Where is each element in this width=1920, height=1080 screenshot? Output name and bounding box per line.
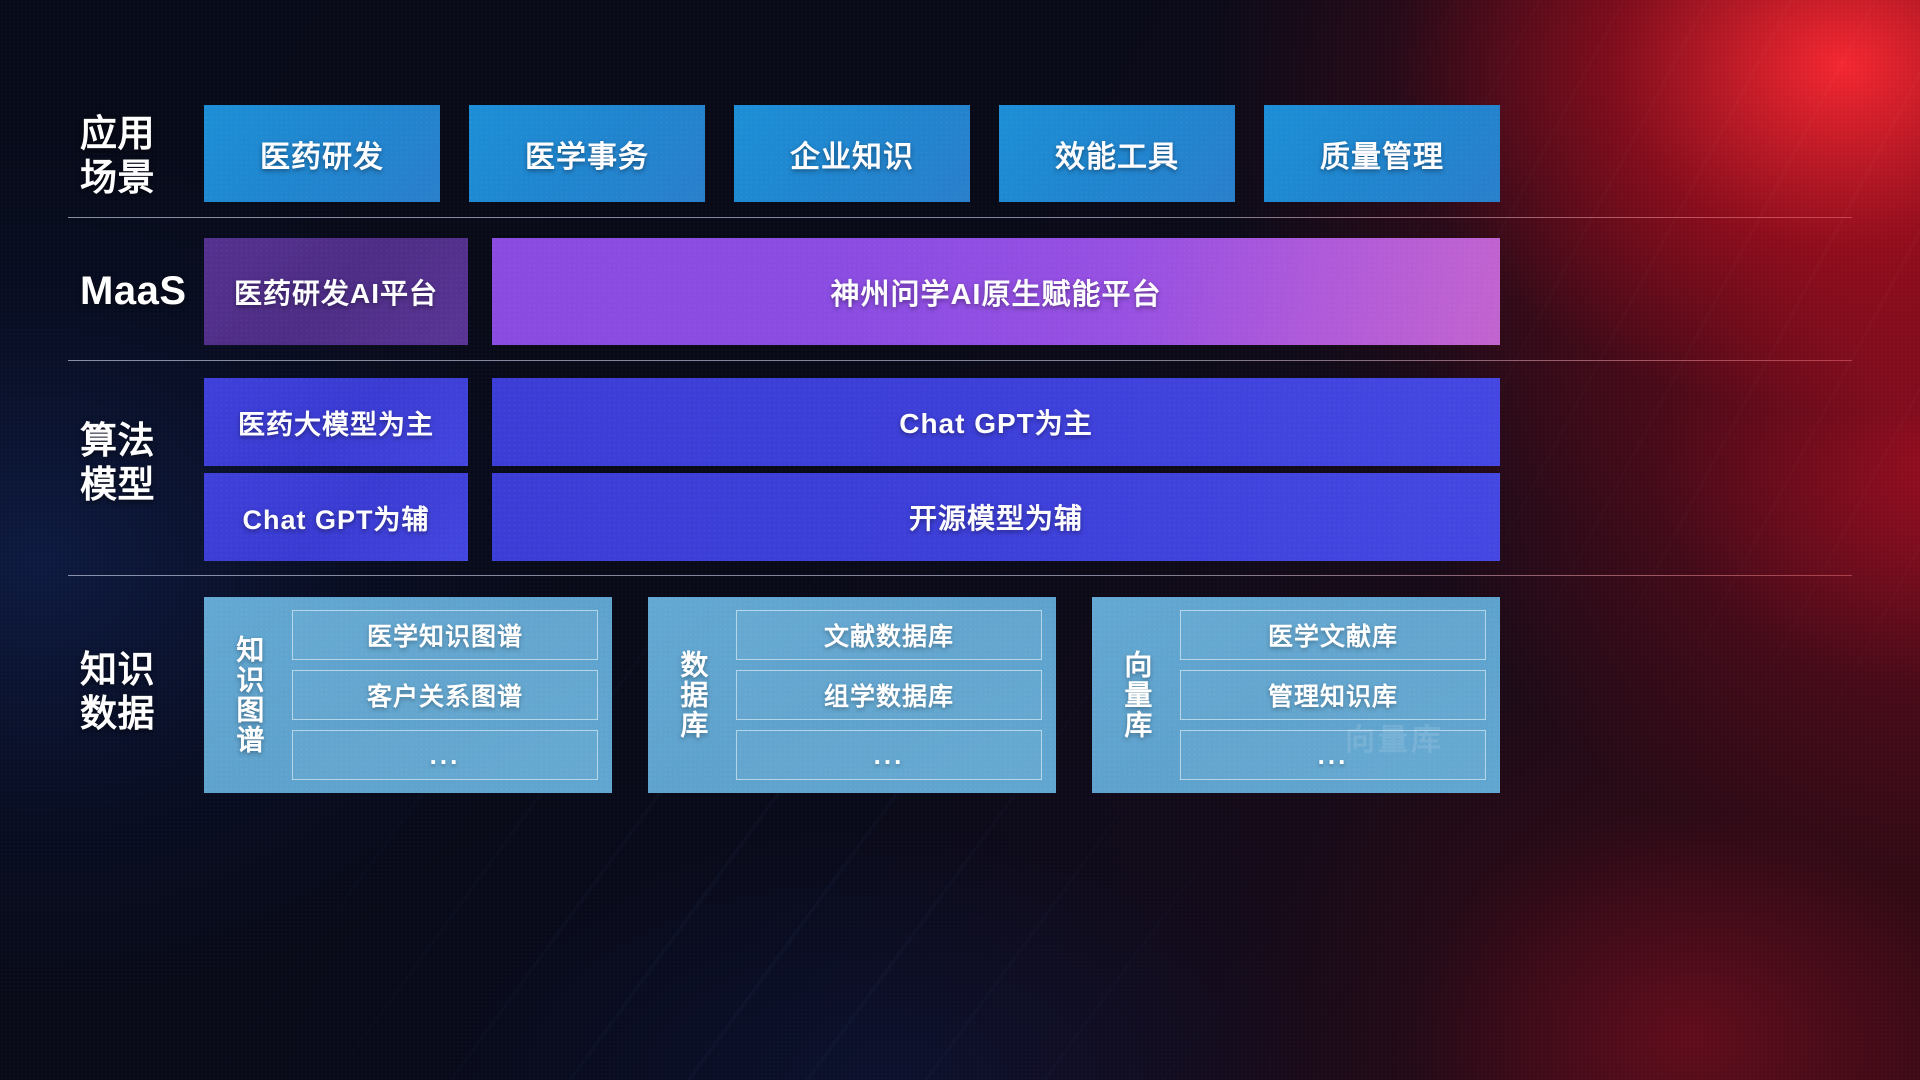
knowledge-card-database[interactable]: 数据库 文献数据库 组学数据库 ... [648, 597, 1056, 793]
row-label-application-scenarios: 应用场景 [80, 112, 220, 199]
knowledge-card-graph[interactable]: 知识图谱 医学知识图谱 客户关系图谱 ... [204, 597, 612, 793]
knowledge-item-more[interactable]: ... [1180, 730, 1486, 780]
app-scenario-box-2[interactable]: 医学事务 [469, 105, 705, 202]
architecture-diagram: 应用场景 医药研发 医学事务 企业知识 效能工具 质量管理 MaaS 医药研发A… [0, 0, 1920, 1080]
divider-after-maas [68, 360, 1852, 361]
knowledge-item[interactable]: 文献数据库 [736, 610, 1042, 660]
app-scenario-box-1[interactable]: 医药研发 [204, 105, 440, 202]
algorithm-box-tier2-left[interactable]: Chat GPT为辅 [204, 473, 468, 561]
algorithm-box-tier2-right[interactable]: 开源模型为辅 [492, 473, 1500, 561]
knowledge-card-items-graph: 医学知识图谱 客户关系图谱 ... [292, 610, 598, 780]
row-label-maas: MaaS [80, 268, 220, 315]
knowledge-item-more[interactable]: ... [736, 730, 1042, 780]
maas-platform-label-right: 神州问学AI原生赋能平台 [830, 271, 1161, 313]
app-scenario-box-4[interactable]: 效能工具 [999, 105, 1235, 202]
algorithm-label-tier2-right: 开源模型为辅 [909, 497, 1083, 537]
algorithm-label-tier1-left: 医药大模型为主 [238, 403, 434, 442]
app-scenario-label-1: 医药研发 [260, 132, 384, 176]
knowledge-item[interactable]: 医学知识图谱 [292, 610, 598, 660]
row-label-knowledge-data: 知识数据 [80, 648, 220, 735]
algorithm-box-tier1-left[interactable]: 医药大模型为主 [204, 378, 468, 466]
knowledge-card-items-database: 文献数据库 组学数据库 ... [736, 610, 1042, 780]
knowledge-item[interactable]: 客户关系图谱 [292, 670, 598, 720]
knowledge-card-title-vector: 向量库 [1102, 610, 1170, 780]
app-scenario-box-3[interactable]: 企业知识 [734, 105, 970, 202]
knowledge-item[interactable]: 组学数据库 [736, 670, 1042, 720]
algorithm-label-tier2-left: Chat GPT为辅 [242, 498, 429, 537]
algorithm-label-tier1-right: Chat GPT为主 [899, 402, 1093, 442]
app-scenario-label-2: 医学事务 [525, 132, 649, 176]
app-scenario-label-3: 企业知识 [790, 132, 914, 176]
maas-platform-box-left[interactable]: 医药研发AI平台 [204, 238, 468, 345]
app-scenario-box-5[interactable]: 质量管理 [1264, 105, 1500, 202]
knowledge-item[interactable]: 医学文献库 [1180, 610, 1486, 660]
knowledge-card-vector[interactable]: 向量库 医学文献库 管理知识库 ... 向量库 [1092, 597, 1500, 793]
knowledge-item-more[interactable]: ... [292, 730, 598, 780]
algorithm-box-tier1-right[interactable]: Chat GPT为主 [492, 378, 1500, 466]
maas-platform-label-left: 医药研发AI平台 [234, 272, 438, 312]
maas-platform-box-right[interactable]: 神州问学AI原生赋能平台 [492, 238, 1500, 345]
app-scenario-label-4: 效能工具 [1055, 132, 1179, 176]
knowledge-item[interactable]: 管理知识库 [1180, 670, 1486, 720]
divider-after-application-scenarios [68, 217, 1852, 218]
knowledge-card-title-graph: 知识图谱 [214, 610, 282, 780]
app-scenario-label-5: 质量管理 [1320, 132, 1444, 176]
knowledge-card-items-vector: 医学文献库 管理知识库 ... [1180, 610, 1486, 780]
divider-after-algorithm-model [68, 575, 1852, 576]
row-label-algorithm-model: 算法模型 [80, 419, 220, 506]
knowledge-card-title-database: 数据库 [658, 610, 726, 780]
